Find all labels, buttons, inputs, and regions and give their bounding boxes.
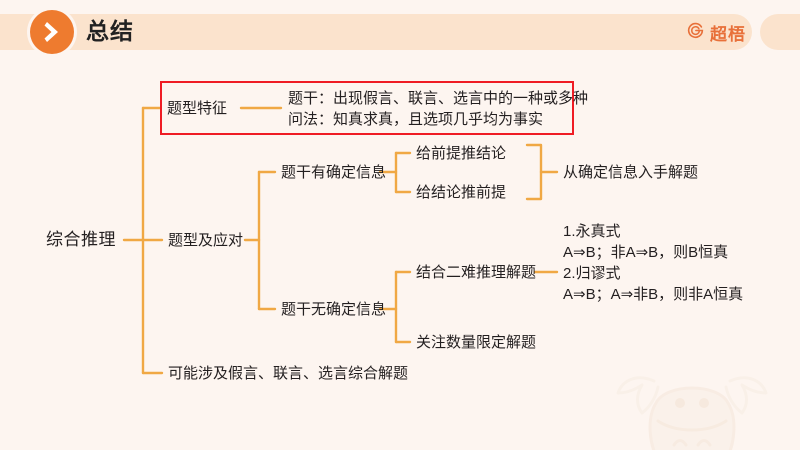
mindmap-leaf-quantity-limit[interactable]: 关注数量限定解题 bbox=[416, 332, 536, 353]
mindmap-node-no-definite-info[interactable]: 题干无确定信息 bbox=[281, 299, 386, 320]
mindmap-node-comprehensive-solving[interactable]: 可能涉及假言、联言、选言综合解题 bbox=[168, 363, 408, 384]
chevron-right-icon bbox=[30, 10, 74, 54]
mindmap-formula-tautology-title: 1.永真式 bbox=[563, 221, 621, 242]
brand-logo: 超梧 bbox=[686, 20, 746, 45]
mindmap-node-types-and-responses[interactable]: 题型及应对 bbox=[168, 230, 243, 251]
mindmap-formula-reductio-body: A⇒B；A⇒非B，则非A恒真 bbox=[563, 284, 743, 305]
mindmap-node-question-features[interactable]: 题型特征 bbox=[167, 98, 227, 119]
mindmap-conclusion-definite-info: 从确定信息入手解题 bbox=[563, 162, 698, 183]
mindmap: 综合推理 题型特征 题干：出现假言、联言、选言中的一种或多种 问法：知真求真，且… bbox=[0, 62, 800, 450]
mindmap-leaf-conclusion-to-premise[interactable]: 给结论推前提 bbox=[416, 182, 506, 203]
page-title: 总结 bbox=[86, 15, 134, 48]
mindmap-root-node[interactable]: 综合推理 bbox=[46, 229, 116, 250]
mindmap-leaf-premise-to-conclusion[interactable]: 给前提推结论 bbox=[416, 143, 506, 164]
slide-header: 总结 超梧 bbox=[0, 0, 800, 62]
brand-name: 超梧 bbox=[710, 20, 746, 45]
slide-canvas: 总结 超梧 bbox=[0, 0, 800, 450]
mindmap-leaf-dilemma-reasoning[interactable]: 结合二难推理解题 bbox=[416, 262, 536, 283]
mindmap-detail-question-style: 问法：知真求真，且选项几乎均为事实 bbox=[288, 109, 543, 130]
mindmap-node-has-definite-info[interactable]: 题干有确定信息 bbox=[281, 162, 386, 183]
header-band-right bbox=[760, 14, 800, 50]
spiral-g-logo-icon bbox=[686, 21, 705, 45]
mindmap-detail-stem: 题干：出现假言、联言、选言中的一种或多种 bbox=[288, 88, 588, 109]
mindmap-formula-tautology-body: A⇒B；非A⇒B，则B恒真 bbox=[563, 242, 728, 263]
mindmap-formula-reductio-title: 2.归谬式 bbox=[563, 263, 621, 284]
